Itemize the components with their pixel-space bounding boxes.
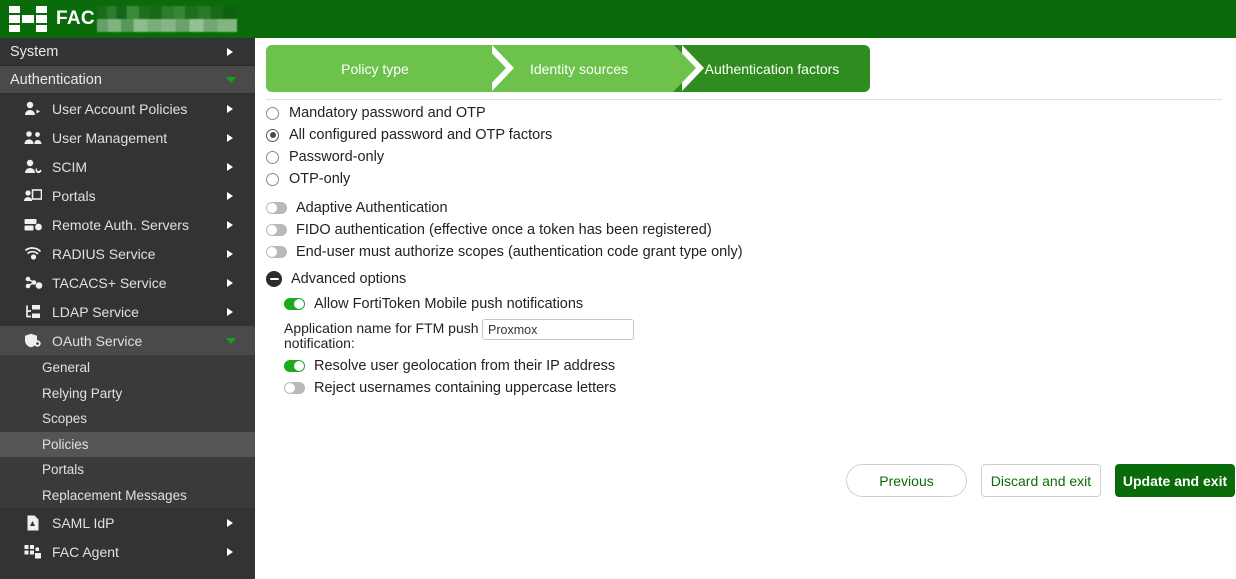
sidebar-item-label: SCIM — [52, 159, 87, 175]
collapse-minus-icon[interactable] — [266, 271, 282, 287]
radio-label: Mandatory password and OTP — [289, 105, 486, 121]
app-window: FAC System Authentication User Account P… — [0, 0, 1236, 579]
wizard-step-label: Authentication factors — [705, 61, 840, 77]
grid-logo-icon[interactable] — [9, 6, 47, 32]
chevron-right-icon — [227, 250, 233, 258]
radio-password-only[interactable] — [266, 151, 279, 164]
chevron-right-icon — [227, 308, 233, 316]
radio-label: All configured password and OTP factors — [289, 127, 552, 143]
form-actions: Previous Discard and exit Update and exi… — [266, 464, 1235, 497]
chevron-right-icon — [227, 548, 233, 556]
sidebar-item-oauth-service[interactable]: OAuth Service — [0, 326, 255, 355]
toggle-row-authorize-scopes[interactable]: End-user must authorize scopes (authenti… — [266, 241, 1196, 263]
sidebar-item-radius-service[interactable]: RADIUS Service — [0, 239, 255, 268]
toggle-row-ftm-push[interactable]: Allow FortiToken Mobile push notificatio… — [284, 293, 1196, 315]
sidebar-item-label: TACACS+ Service — [52, 275, 167, 291]
toggle-row-reject-uppercase-usernames[interactable]: Reject usernames containing uppercase le… — [284, 377, 1196, 399]
radio-label: Password-only — [289, 149, 384, 165]
advanced-options-body: Allow FortiToken Mobile push notificatio… — [284, 293, 1196, 399]
toggle-label: FIDO authentication (effective once a to… — [296, 222, 712, 238]
ftm-app-name-input[interactable] — [482, 319, 634, 340]
sidebar-subitem-portals[interactable]: Portals — [0, 457, 255, 483]
toggle-label: End-user must authorize scopes (authenti… — [296, 244, 743, 260]
chevron-right-icon — [227, 519, 233, 527]
toggle-label: Allow FortiToken Mobile push notificatio… — [314, 296, 583, 312]
sidebar-item-label: Remote Auth. Servers — [52, 217, 189, 233]
sidebar-item-label: User Account Policies — [52, 101, 187, 117]
ftm-app-name-label: Application name for FTM push notificati… — [284, 319, 482, 351]
app-header: FAC — [0, 0, 1236, 38]
sidebar-item-system[interactable]: System — [0, 38, 255, 66]
radius-icon — [22, 245, 44, 263]
advanced-options-header[interactable]: Advanced options — [266, 268, 1196, 290]
sidebar-item-user-management[interactable]: User Management — [0, 123, 255, 152]
toggle-row-adaptive-authentication[interactable]: Adaptive Authentication — [266, 197, 1196, 219]
sidebar-item-saml-idp[interactable]: SAML IdP — [0, 508, 255, 537]
sidebar-subitem-label: General — [42, 360, 90, 375]
sidebar-subitem-policies[interactable]: Policies — [0, 432, 255, 458]
sidebar: System Authentication User Account Polic… — [0, 38, 255, 579]
radio-label: OTP-only — [289, 171, 350, 187]
sidebar-item-authentication[interactable]: Authentication — [0, 66, 255, 94]
sidebar-item-label: Authentication — [10, 72, 102, 88]
sidebar-subitem-label: Relying Party — [42, 386, 122, 401]
step-chevron-icon — [484, 45, 506, 91]
sidebar-subitem-label: Policies — [42, 437, 89, 452]
chevron-down-icon — [226, 77, 236, 83]
header-divider — [266, 99, 1222, 100]
sidebar-item-label: FAC Agent — [52, 544, 119, 560]
step-chevron-icon — [674, 45, 696, 91]
sidebar-item-user-account-policies[interactable]: User Account Policies — [0, 94, 255, 123]
sidebar-subitem-general[interactable]: General — [0, 355, 255, 381]
ftm-app-name-field-row: Application name for FTM push notificati… — [284, 319, 1196, 351]
redacted-hostname — [97, 6, 237, 32]
server-icon — [22, 216, 44, 234]
chevron-right-icon — [227, 279, 233, 287]
sidebar-item-label: Portals — [52, 188, 96, 204]
sidebar-item-scim[interactable]: SCIM — [0, 152, 255, 181]
portal-icon — [22, 187, 44, 205]
user-policy-icon — [22, 100, 44, 118]
toggle-ftm-push-notifications[interactable] — [284, 298, 305, 310]
toggle-resolve-geolocation[interactable] — [284, 360, 305, 372]
user-sync-icon — [22, 158, 44, 176]
sidebar-item-tacacs-service[interactable]: TACACS+ Service — [0, 268, 255, 297]
sidebar-item-ldap-service[interactable]: LDAP Service — [0, 297, 255, 326]
toggle-row-resolve-geolocation[interactable]: Resolve user geolocation from their IP a… — [284, 355, 1196, 377]
sidebar-subitem-scopes[interactable]: Scopes — [0, 406, 255, 432]
tacacs-icon — [22, 274, 44, 292]
wizard-steps: Policy type Identity sources Authenticat… — [266, 45, 870, 92]
radio-row-mandatory-password-otp[interactable]: Mandatory password and OTP — [266, 102, 1196, 124]
authentication-factors-form: Mandatory password and OTP All configure… — [266, 102, 1196, 399]
sidebar-item-label: RADIUS Service — [52, 246, 155, 262]
sidebar-item-label: LDAP Service — [52, 304, 139, 320]
chevron-right-icon — [227, 192, 233, 200]
chevron-right-icon — [227, 105, 233, 113]
sidebar-subitem-label: Scopes — [42, 411, 87, 426]
toggle-row-fido-authentication[interactable]: FIDO authentication (effective once a to… — [266, 219, 1196, 241]
ldap-icon — [22, 303, 44, 321]
wizard-step-label: Policy type — [341, 61, 409, 77]
toggle-label: Resolve user geolocation from their IP a… — [314, 358, 615, 374]
sidebar-item-label: OAuth Service — [52, 333, 142, 349]
discard-and-exit-button[interactable]: Discard and exit — [981, 464, 1101, 497]
sidebar-subitem-relying-party[interactable]: Relying Party — [0, 381, 255, 407]
sidebar-subitem-replacement-messages[interactable]: Replacement Messages — [0, 483, 255, 509]
toggle-reject-uppercase-usernames[interactable] — [284, 382, 305, 394]
wizard-step-policy-type[interactable]: Policy type — [266, 45, 484, 92]
chevron-right-icon — [227, 163, 233, 171]
chevron-down-icon — [226, 338, 236, 344]
sidebar-subitem-label: Portals — [42, 462, 84, 477]
sidebar-item-fac-agent[interactable]: FAC Agent — [0, 537, 255, 566]
chevron-right-icon — [227, 134, 233, 142]
radio-all-configured-factors[interactable] — [266, 129, 279, 142]
main-content: Policy type Identity sources Authenticat… — [255, 38, 1236, 579]
saml-doc-icon — [22, 514, 44, 532]
radio-otp-only[interactable] — [266, 173, 279, 186]
sidebar-item-remote-auth-servers[interactable]: Remote Auth. Servers — [0, 210, 255, 239]
chevron-right-icon — [227, 221, 233, 229]
radio-mandatory-password-otp[interactable] — [266, 107, 279, 120]
update-and-exit-button[interactable]: Update and exit — [1115, 464, 1235, 497]
sidebar-item-label: User Management — [52, 130, 167, 146]
sidebar-subitem-label: Replacement Messages — [42, 488, 187, 503]
radio-row-password-only[interactable]: Password-only — [266, 146, 1196, 168]
previous-button[interactable]: Previous — [846, 464, 967, 497]
oauth-shield-icon — [22, 332, 44, 350]
radio-row-otp-only[interactable]: OTP-only — [266, 168, 1196, 190]
brand-title: FAC — [56, 8, 95, 30]
users-icon — [22, 129, 44, 147]
oauth-submenu: General Relying Party Scopes Policies Po… — [0, 355, 255, 508]
toggle-label: Adaptive Authentication — [296, 200, 448, 216]
sidebar-item-portals[interactable]: Portals — [0, 181, 255, 210]
toggle-fido-authentication[interactable] — [266, 224, 287, 236]
wizard-step-label: Identity sources — [530, 61, 628, 77]
radio-row-all-configured-factors[interactable]: All configured password and OTP factors — [266, 124, 1196, 146]
sidebar-item-label: SAML IdP — [52, 515, 115, 531]
toggle-adaptive-authentication[interactable] — [266, 202, 287, 214]
toggle-authorize-scopes[interactable] — [266, 246, 287, 258]
fac-agent-icon — [22, 543, 44, 561]
advanced-options-label: Advanced options — [291, 271, 406, 287]
toggle-label: Reject usernames containing uppercase le… — [314, 380, 616, 396]
sidebar-item-label: System — [10, 44, 58, 60]
chevron-right-icon — [227, 48, 233, 56]
